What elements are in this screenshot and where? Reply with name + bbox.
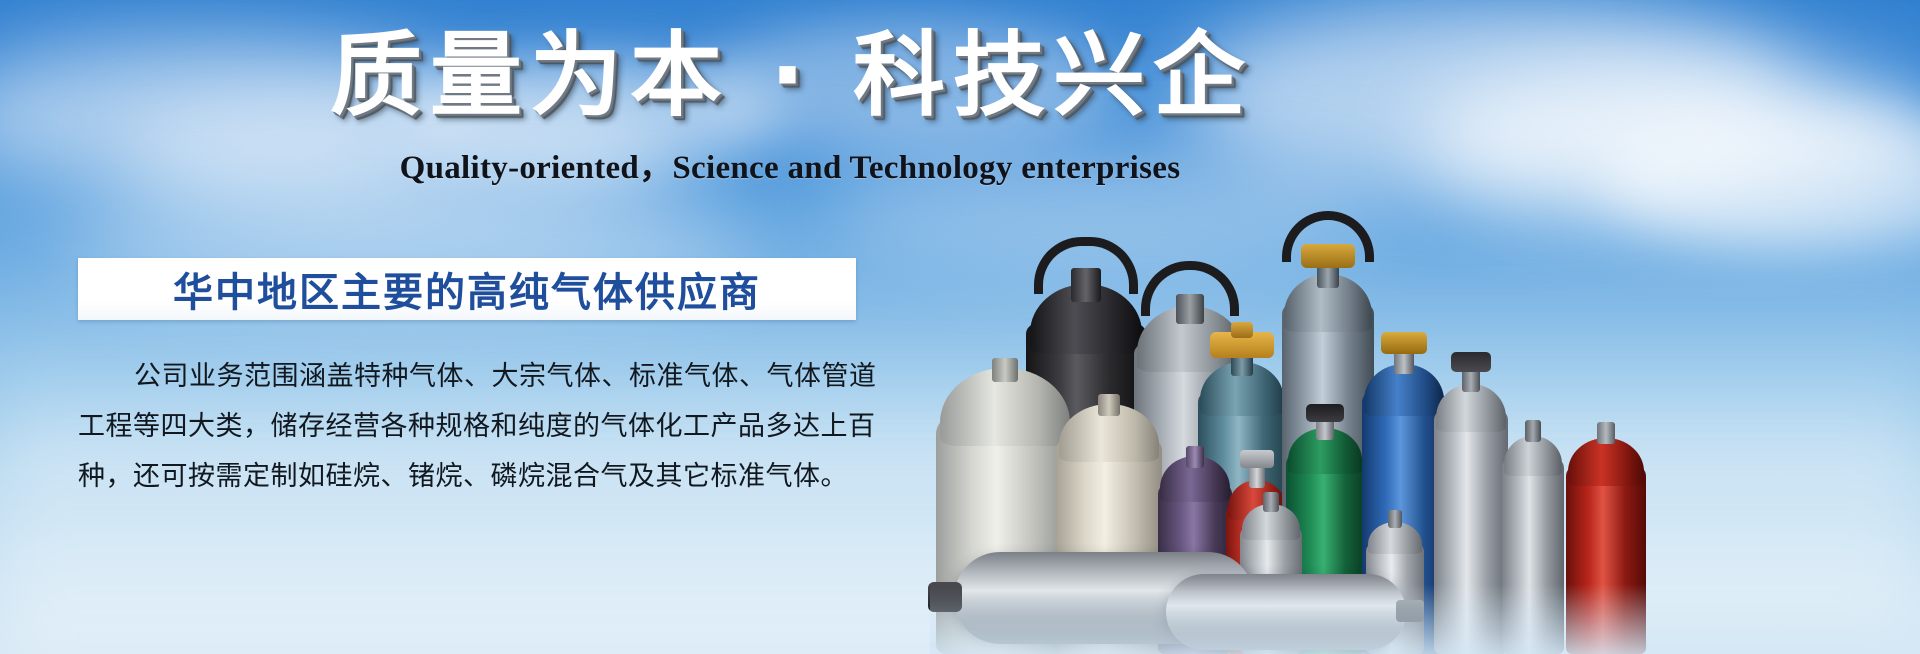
gas-cylinders-photo bbox=[930, 0, 1920, 654]
paragraph-line-2: 工程等四大类，储存经营各种规格和纯度的气体化工产品多达上百 bbox=[78, 402, 868, 452]
promo-banner: 质量为本 · 科技兴企 Quality-oriented，Science and… bbox=[0, 0, 1920, 654]
highlight-box-label: 华中地区主要的高纯气体供应商 bbox=[173, 260, 761, 318]
paragraph-line-3: 种，还可按需定制如硅烷、锗烷、磷烷混合气及其它标准气体。 bbox=[78, 452, 868, 502]
description-paragraph: 公司业务范围涵盖特种气体、大宗气体、标准气体、气体管道 工程等四大类，储存经营各… bbox=[78, 352, 868, 502]
highlight-box: 华中地区主要的高纯气体供应商 bbox=[78, 258, 856, 320]
paragraph-line-1: 公司业务范围涵盖特种气体、大宗气体、标准气体、气体管道 bbox=[78, 352, 868, 402]
